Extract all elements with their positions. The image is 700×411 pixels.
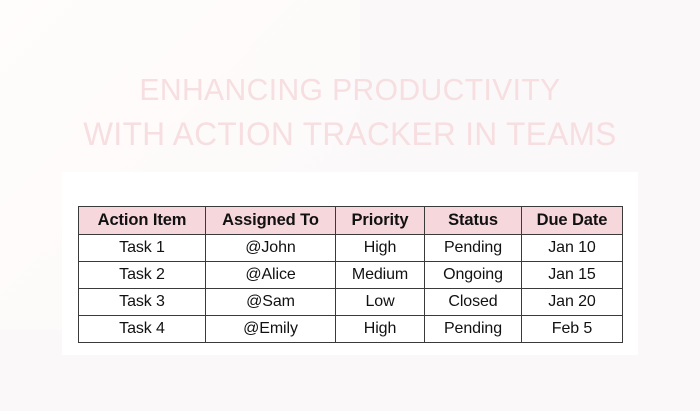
column-header-due-date: Due Date	[522, 207, 623, 235]
cell-assigned-to: @Alice	[206, 262, 336, 289]
cell-priority: High	[336, 316, 425, 343]
cell-priority: High	[336, 235, 425, 262]
page-canvas: Enhancing Productivity With Action Track…	[0, 0, 700, 411]
cell-action-item: Task 4	[79, 316, 206, 343]
action-tracker-table-container: Action Item Assigned To Priority Status …	[78, 206, 622, 343]
page-title: Enhancing Productivity With Action Track…	[0, 68, 700, 156]
cell-assigned-to: @Sam	[206, 289, 336, 316]
cell-priority: Low	[336, 289, 425, 316]
cell-status: Pending	[425, 316, 522, 343]
cell-assigned-to: @Emily	[206, 316, 336, 343]
cell-priority: Medium	[336, 262, 425, 289]
cell-action-item: Task 2	[79, 262, 206, 289]
table-row: Task 1 @John High Pending Jan 10	[79, 235, 623, 262]
cell-due-date: Feb 5	[522, 316, 623, 343]
table-header-row: Action Item Assigned To Priority Status …	[79, 207, 623, 235]
page-title-line-2: With Action Tracker In Teams	[11, 112, 690, 156]
table-row: Task 2 @Alice Medium Ongoing Jan 15	[79, 262, 623, 289]
table-header: Action Item Assigned To Priority Status …	[79, 207, 623, 235]
cell-status: Closed	[425, 289, 522, 316]
cell-action-item: Task 1	[79, 235, 206, 262]
table-body: Task 1 @John High Pending Jan 10 Task 2 …	[79, 235, 623, 343]
cell-due-date: Jan 20	[522, 289, 623, 316]
table-row: Task 3 @Sam Low Closed Jan 20	[79, 289, 623, 316]
column-header-action-item: Action Item	[79, 207, 206, 235]
cell-status: Ongoing	[425, 262, 522, 289]
column-header-status: Status	[425, 207, 522, 235]
cell-assigned-to: @John	[206, 235, 336, 262]
page-title-line-1: Enhancing Productivity	[11, 68, 690, 112]
cell-action-item: Task 3	[79, 289, 206, 316]
column-header-assigned-to: Assigned To	[206, 207, 336, 235]
action-tracker-table: Action Item Assigned To Priority Status …	[78, 206, 623, 343]
cell-due-date: Jan 10	[522, 235, 623, 262]
cell-due-date: Jan 15	[522, 262, 623, 289]
table-row: Task 4 @Emily High Pending Feb 5	[79, 316, 623, 343]
cell-status: Pending	[425, 235, 522, 262]
column-header-priority: Priority	[336, 207, 425, 235]
